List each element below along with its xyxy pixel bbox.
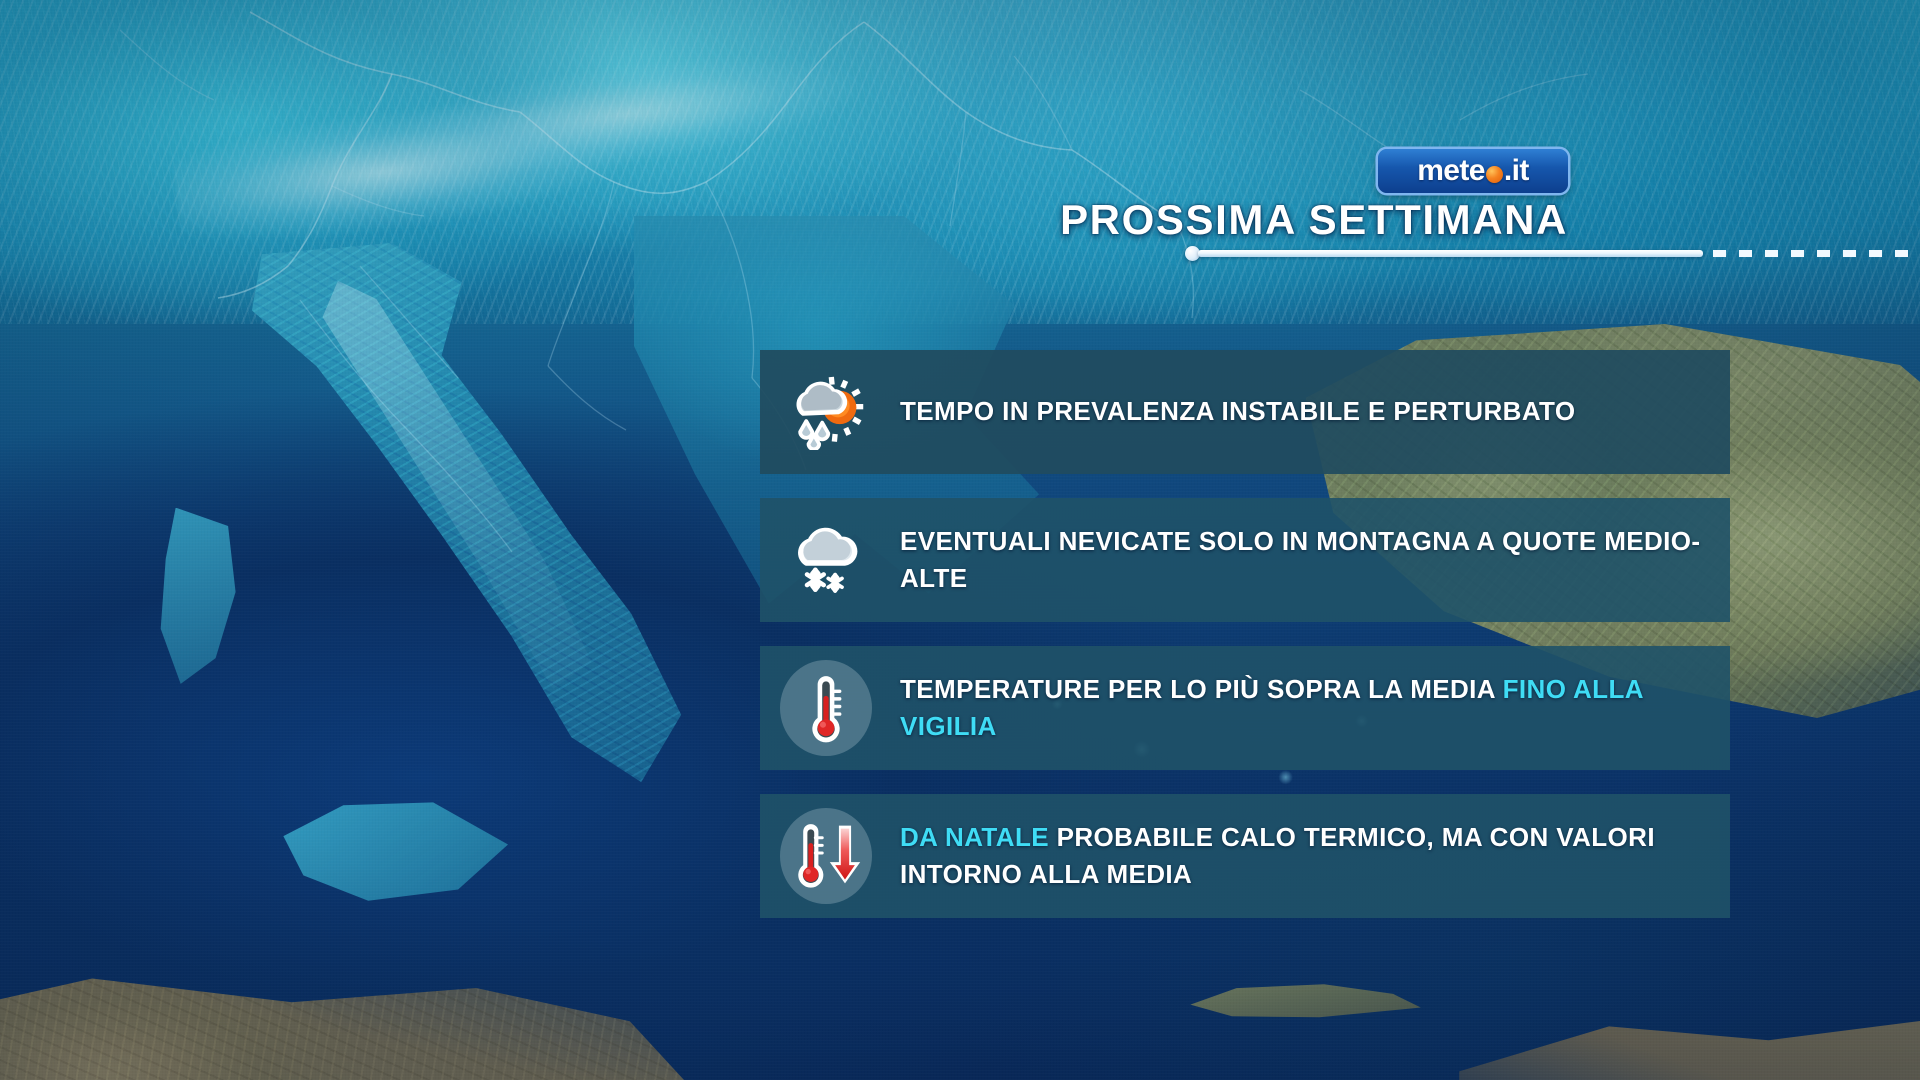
forecast-row-text: DA NATALE PROBABILE CALO TERMICO, MA CON… — [878, 819, 1708, 894]
forecast-row-text: TEMPERATURE PER LO PIÙ SOPRA LA MEDIA FI… — [878, 671, 1708, 746]
header: mete .it PROSSIMA SETTIMANA — [0, 0, 1920, 330]
forecast-text-highlight: DA NATALE — [900, 822, 1049, 852]
timeline-solid-segment — [1198, 250, 1703, 257]
thermometer-icon — [788, 670, 864, 746]
forecast-row-text: TEMPO IN PREVALENZA INSTABILE E PERTURBA… — [878, 393, 1708, 430]
forecast-icon-wrap — [774, 508, 878, 612]
logo-text-before: mete — [1417, 156, 1485, 186]
forecast-text-segment: TEMPO IN PREVALENZA INSTABILE E PERTURBA… — [900, 396, 1576, 426]
timeline — [1185, 245, 1920, 263]
orange-dot-icon — [1486, 166, 1503, 183]
sun-behind-rain-cloud-icon — [788, 374, 864, 450]
timeline-dashed-segment — [1713, 250, 1920, 257]
logo-text-after: .it — [1504, 156, 1529, 186]
forecast-icon-wrap — [774, 656, 878, 760]
logo-wordmark: mete .it — [1417, 156, 1529, 186]
page-title: PROSSIMA SETTIMANA — [1060, 196, 1568, 244]
meteo-it-logo[interactable]: mete .it — [1378, 149, 1568, 193]
forecast-row: TEMPERATURE PER LO PIÙ SOPRA LA MEDIA FI… — [760, 646, 1730, 770]
snow-cloud-icon — [788, 522, 864, 598]
forecast-icon-wrap — [774, 804, 878, 908]
forecast-text-segment: TEMPERATURE PER LO PIÙ SOPRA LA MEDIA — [900, 674, 1503, 704]
thermometer-falling-icon — [788, 818, 864, 894]
forecast-row: EVENTUALI NEVICATE SOLO IN MONTAGNA A QU… — [760, 498, 1730, 622]
forecast-list: TEMPO IN PREVALENZA INSTABILE E PERTURBA… — [760, 350, 1730, 918]
forecast-row: TEMPO IN PREVALENZA INSTABILE E PERTURBA… — [760, 350, 1730, 474]
forecast-icon-wrap — [774, 360, 878, 464]
forecast-text-segment: EVENTUALI NEVICATE SOLO IN MONTAGNA A QU… — [900, 526, 1700, 593]
forecast-row: DA NATALE PROBABILE CALO TERMICO, MA CON… — [760, 794, 1730, 918]
forecast-row-text: EVENTUALI NEVICATE SOLO IN MONTAGNA A QU… — [878, 523, 1708, 598]
